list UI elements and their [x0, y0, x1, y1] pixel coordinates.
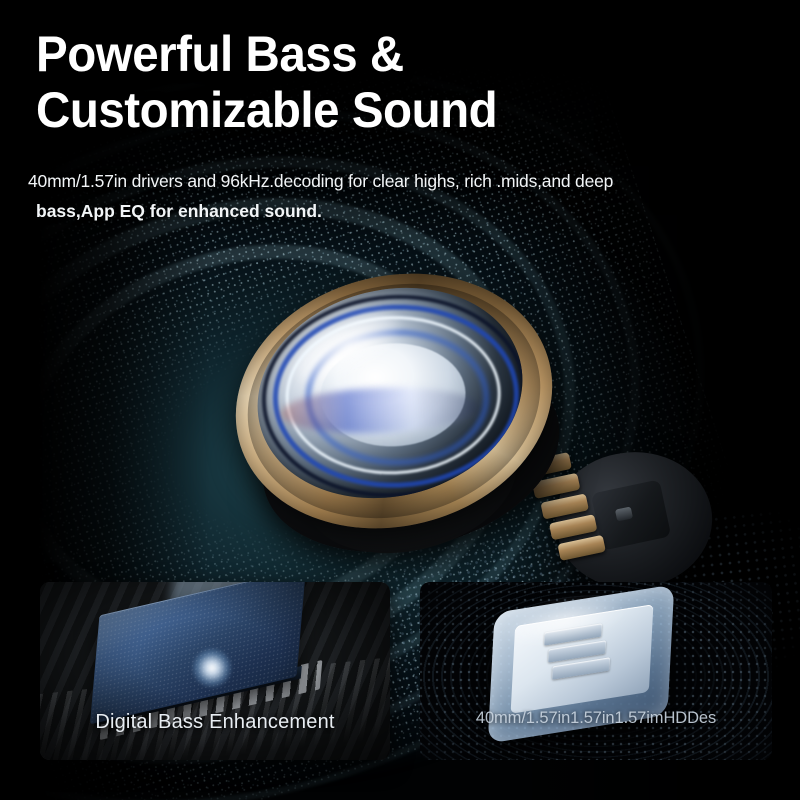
speaker-driver-image: [212, 268, 632, 578]
subtitle-line-2: bass,App EQ for enhanced sound.: [36, 198, 800, 225]
panel-vignette: [40, 582, 390, 760]
subtitle: 40mm/1.57in drivers and 96kHz.decoding f…: [28, 168, 800, 225]
product-feature-poster: Powerful Bass & Customizable Sound 40mm/…: [0, 0, 800, 800]
panel-digital-bass-enhancement: Digital Bass Enhancement: [40, 582, 390, 760]
circuit-board-scene: [40, 582, 390, 760]
crystal-scene: [420, 582, 772, 760]
panel-driver-spec: 40mm/1.57in1.57in1.57imHDDes: [420, 582, 772, 760]
headline: Powerful Bass & Customizable Sound: [36, 26, 730, 138]
subtitle-line-1: 40mm/1.57in drivers and 96kHz.decoding f…: [28, 168, 800, 195]
